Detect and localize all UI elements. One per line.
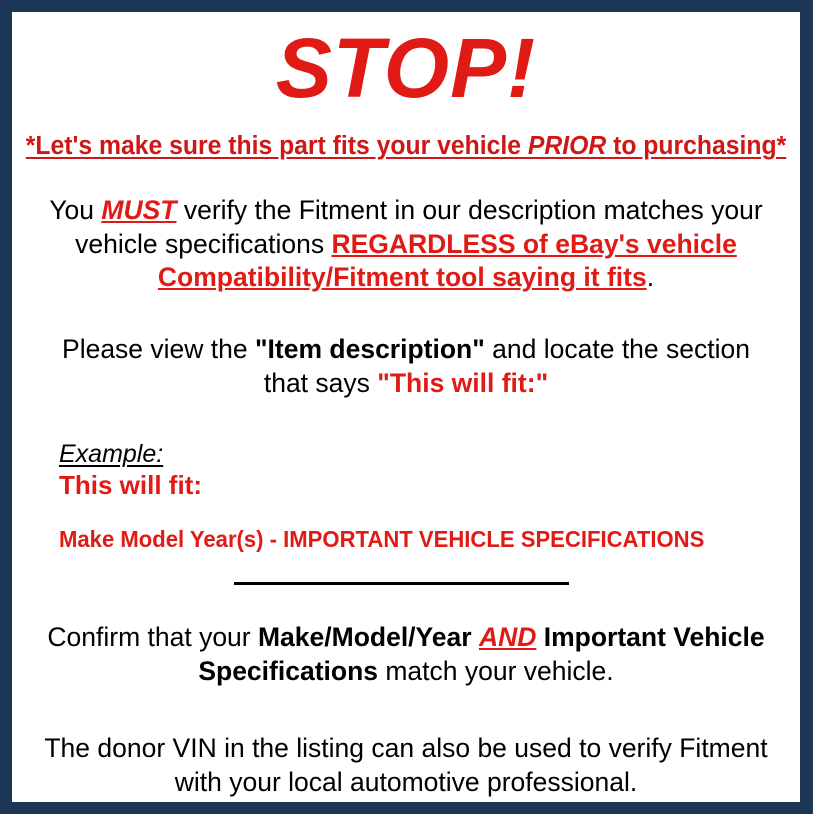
- subtitle-lead-text: *Let's make sure this part fits your veh…: [26, 132, 528, 160]
- para4-part2: match your vehicle.: [378, 656, 614, 686]
- page-title: STOP!: [12, 12, 800, 110]
- example-fit-heading: This will fit:: [59, 471, 800, 501]
- closing-thank-you: Thank you for confirming Fitment!: [12, 800, 800, 802]
- example-spec-line: Make Model Year(s) - IMPORTANT VEHICLE S…: [59, 527, 770, 552]
- para4-emphasis-and: AND: [479, 622, 536, 652]
- para1-part3: .: [647, 262, 654, 292]
- paragraph-item-description: Please view the "Item description" and l…: [12, 295, 800, 400]
- para4-bold-make-model-year: Make/Model/Year: [258, 622, 472, 652]
- fitment-notice-card: STOP! *Let's make sure this part fits yo…: [0, 0, 813, 814]
- para2-part1: Please view the: [62, 334, 255, 364]
- subtitle-banner: *Let's make sure this part fits your veh…: [24, 110, 788, 160]
- paragraph-confirm-match: Confirm that your Make/Model/Year AND Im…: [12, 585, 800, 688]
- para2-bold-item-description: "Item description": [255, 334, 485, 364]
- paragraph-donor-vin: The donor VIN in the listing can also be…: [12, 688, 800, 799]
- notice-content-area: STOP! *Let's make sure this part fits yo…: [12, 12, 800, 802]
- para1-part1: You: [49, 195, 101, 225]
- para2-red-this-will-fit: "This will fit:": [377, 368, 548, 398]
- para1-emphasis-must: MUST: [101, 195, 176, 225]
- example-label: Example:: [59, 440, 163, 469]
- paragraph-verify-fitment: You MUST verify the Fitment in our descr…: [12, 160, 800, 295]
- subtitle-tail-text: to purchasing*: [606, 132, 786, 160]
- para4-part1: Confirm that your: [47, 622, 258, 652]
- subtitle-emphasis-prior: PRIOR: [528, 132, 606, 160]
- divider-container: [12, 552, 800, 585]
- example-block: Example: This will fit: Make Model Year(…: [12, 400, 800, 552]
